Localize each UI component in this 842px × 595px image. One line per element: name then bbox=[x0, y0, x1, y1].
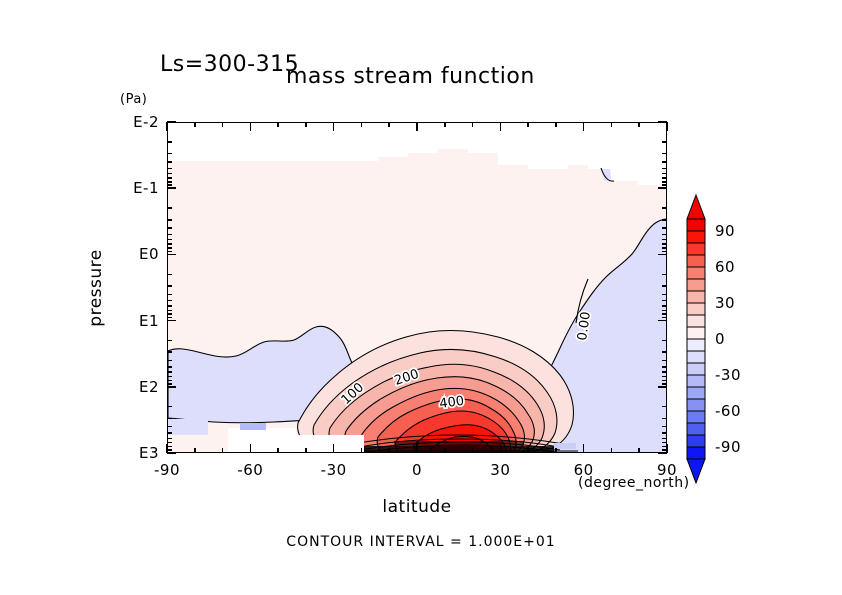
x-tick-label: -90 bbox=[154, 461, 180, 479]
x-tick-top-major bbox=[666, 122, 668, 131]
x-tick-top-minor bbox=[305, 122, 307, 127]
y-axis-title: pressure bbox=[86, 249, 106, 326]
y-tick-minor bbox=[167, 177, 172, 179]
y-tick-right-minor bbox=[662, 438, 667, 440]
y-tick-minor bbox=[167, 168, 172, 170]
y-tick-minor bbox=[167, 310, 172, 312]
y-tick-right-minor bbox=[662, 285, 667, 287]
y-tick-minor bbox=[167, 366, 172, 368]
x-tick-top-minor bbox=[555, 122, 557, 127]
colorbar-swatch bbox=[687, 411, 705, 423]
colorbar-swatch bbox=[687, 267, 705, 279]
colorbar-tick-label: 60 bbox=[715, 258, 735, 276]
y-tick-minor bbox=[167, 207, 172, 209]
y-tick-right-minor bbox=[662, 247, 667, 249]
y-tick-right-minor bbox=[662, 181, 667, 183]
y-tick-label: E-2 bbox=[115, 113, 159, 131]
contour-plot-area: 100 200 400 0.00 bbox=[167, 122, 667, 453]
y-tick-right-major bbox=[658, 254, 667, 256]
y-tick-right-minor bbox=[662, 251, 667, 253]
x-tick-top-major bbox=[250, 122, 252, 131]
y-tick-minor bbox=[167, 234, 172, 236]
x-tick-top-minor bbox=[277, 122, 279, 127]
y-tick-right-minor bbox=[662, 177, 667, 179]
pressure-unit-label: (Pa) bbox=[120, 92, 147, 107]
colorbar-swatch bbox=[687, 219, 705, 231]
y-tick-right-minor bbox=[662, 161, 667, 163]
x-tick-minor bbox=[527, 448, 529, 453]
y-tick-right-minor bbox=[662, 366, 667, 368]
y-tick-right-minor bbox=[662, 305, 667, 307]
colorbar-swatch bbox=[687, 351, 705, 363]
y-tick-minor bbox=[167, 274, 172, 276]
y-tick-right-minor bbox=[662, 426, 667, 428]
y-tick-minor bbox=[167, 340, 172, 342]
y-tick-major bbox=[167, 452, 176, 454]
y-tick-right-minor bbox=[662, 294, 667, 296]
colorbar-swatch bbox=[687, 303, 705, 315]
y-tick-right-minor bbox=[662, 340, 667, 342]
y-tick-right-major bbox=[658, 187, 667, 189]
x-tick-top-major bbox=[333, 122, 335, 131]
y-tick-right-minor bbox=[662, 239, 667, 241]
colorbar-tick-label: 30 bbox=[715, 294, 735, 312]
y-tick-minor bbox=[167, 227, 172, 229]
y-tick-right-minor bbox=[662, 219, 667, 221]
y-tick-right-minor bbox=[662, 376, 667, 378]
y-tick-minor bbox=[167, 285, 172, 287]
colorbar-tick-label: -60 bbox=[715, 402, 741, 420]
y-tick-minor bbox=[167, 300, 172, 302]
colorbar-swatch bbox=[687, 387, 705, 399]
y-tick-right-minor bbox=[662, 432, 667, 434]
y-tick-right-minor bbox=[662, 442, 667, 444]
y-tick-minor bbox=[167, 380, 172, 382]
y-tick-right-minor bbox=[662, 446, 667, 448]
y-tick-minor bbox=[167, 432, 172, 434]
contour-plot-canvas: 100 200 400 0.00 bbox=[168, 123, 666, 452]
y-tick-minor bbox=[167, 243, 172, 245]
colorbar-swatch bbox=[687, 435, 705, 447]
y-tick-minor bbox=[167, 438, 172, 440]
colorbar bbox=[683, 193, 709, 485]
y-tick-right-minor bbox=[662, 243, 667, 245]
colorbar-swatch bbox=[687, 363, 705, 375]
x-tick-minor bbox=[611, 448, 613, 453]
x-tick-top-minor bbox=[638, 122, 640, 127]
y-tick-minor bbox=[167, 360, 172, 362]
y-tick-right-minor bbox=[662, 351, 667, 353]
y-tick-major bbox=[167, 254, 176, 256]
y-tick-right-minor bbox=[662, 360, 667, 362]
x-tick-major bbox=[333, 444, 335, 453]
y-tick-minor bbox=[167, 141, 172, 143]
x-tick-label: 0 bbox=[412, 461, 422, 479]
x-tick-major bbox=[583, 444, 585, 453]
x-tick-top-minor bbox=[222, 122, 224, 127]
x-tick-label: -30 bbox=[321, 461, 347, 479]
colorbar-swatch bbox=[687, 339, 705, 351]
x-tick-label: 30 bbox=[490, 461, 510, 479]
colorbar-swatch bbox=[687, 315, 705, 327]
chart-title: mass stream function bbox=[286, 64, 535, 89]
x-tick-minor bbox=[305, 448, 307, 453]
x-tick-top-minor bbox=[388, 122, 390, 127]
y-tick-minor bbox=[167, 446, 172, 448]
y-tick-minor bbox=[167, 418, 172, 420]
y-tick-right-minor bbox=[662, 274, 667, 276]
x-tick-minor bbox=[444, 448, 446, 453]
y-tick-minor bbox=[167, 371, 172, 373]
x-tick-major bbox=[250, 444, 252, 453]
x-tick-minor bbox=[361, 448, 363, 453]
x-tick-top-minor bbox=[444, 122, 446, 127]
x-tick-top-major bbox=[166, 122, 168, 131]
y-tick-right-minor bbox=[662, 449, 667, 451]
y-tick-right-major bbox=[658, 121, 667, 123]
y-tick-right-minor bbox=[662, 227, 667, 229]
colorbar-tick-label: 0 bbox=[715, 330, 725, 348]
y-tick-minor bbox=[167, 305, 172, 307]
x-tick-top-major bbox=[583, 122, 585, 131]
x-tick-minor bbox=[194, 448, 196, 453]
colorbar-tick-label: -30 bbox=[715, 366, 741, 384]
colorbar-swatch bbox=[687, 423, 705, 435]
x-tick-top-minor bbox=[527, 122, 529, 127]
y-tick-right-minor bbox=[662, 141, 667, 143]
y-tick-major bbox=[167, 320, 176, 322]
y-tick-minor bbox=[167, 239, 172, 241]
y-tick-label: E3 bbox=[115, 444, 159, 462]
x-tick-top-minor bbox=[194, 122, 196, 127]
contour-field-svg: 100 200 400 0.00 bbox=[168, 123, 666, 452]
y-tick-minor bbox=[167, 247, 172, 249]
x-tick-major bbox=[416, 444, 418, 453]
colorbar-arrow-max bbox=[687, 195, 705, 219]
colorbar-swatches bbox=[683, 193, 709, 485]
y-tick-minor bbox=[167, 161, 172, 163]
y-tick-right-major bbox=[658, 320, 667, 322]
x-tick-label: -60 bbox=[237, 461, 263, 479]
y-tick-major bbox=[167, 386, 176, 388]
y-tick-minor bbox=[167, 376, 172, 378]
y-tick-right-minor bbox=[662, 383, 667, 385]
y-tick-minor bbox=[167, 449, 172, 451]
x-tick-minor bbox=[555, 448, 557, 453]
y-tick-right-minor bbox=[662, 234, 667, 236]
subtitle-ls: Ls=300-315 bbox=[160, 52, 299, 77]
y-tick-minor bbox=[167, 251, 172, 253]
y-tick-right-major bbox=[658, 386, 667, 388]
y-tick-label: E0 bbox=[115, 245, 159, 263]
colorbar-tick-label: -90 bbox=[715, 438, 741, 456]
y-tick-minor bbox=[167, 219, 172, 221]
colorbar-swatch bbox=[687, 231, 705, 243]
colorbar-swatch bbox=[687, 255, 705, 267]
colorbar-swatch bbox=[687, 447, 705, 459]
y-tick-minor bbox=[167, 181, 172, 183]
y-tick-minor bbox=[167, 442, 172, 444]
x-axis-unit: (degree_north) bbox=[578, 475, 690, 491]
x-tick-minor bbox=[472, 448, 474, 453]
y-tick-right-minor bbox=[662, 380, 667, 382]
y-tick-right-minor bbox=[662, 406, 667, 408]
y-tick-right-minor bbox=[662, 168, 667, 170]
y-tick-minor bbox=[167, 317, 172, 319]
y-tick-right-minor bbox=[662, 310, 667, 312]
x-tick-minor bbox=[638, 448, 640, 453]
x-tick-top-major bbox=[500, 122, 502, 131]
y-tick-major bbox=[167, 121, 176, 123]
colorbar-swatch bbox=[687, 399, 705, 411]
y-tick-label: E2 bbox=[115, 378, 159, 396]
x-tick-minor bbox=[277, 448, 279, 453]
colorbar-swatch bbox=[687, 291, 705, 303]
colorbar-arrow-min bbox=[687, 459, 705, 483]
colorbar-swatch bbox=[687, 327, 705, 339]
y-tick-right-minor bbox=[662, 153, 667, 155]
x-tick-minor bbox=[222, 448, 224, 453]
y-tick-major bbox=[167, 187, 176, 189]
contour-interval-note: CONTOUR INTERVAL = 1.000E+01 bbox=[286, 534, 555, 550]
colorbar-swatch bbox=[687, 375, 705, 387]
y-tick-right-minor bbox=[662, 313, 667, 315]
y-tick-minor bbox=[167, 406, 172, 408]
y-tick-right-minor bbox=[662, 371, 667, 373]
y-tick-right-minor bbox=[662, 173, 667, 175]
y-tick-minor bbox=[167, 426, 172, 428]
x-axis-title: latitude bbox=[382, 497, 451, 517]
colorbar-swatch bbox=[687, 279, 705, 291]
y-tick-minor bbox=[167, 351, 172, 353]
y-tick-minor bbox=[167, 184, 172, 186]
x-tick-top-major bbox=[416, 122, 418, 131]
y-tick-label: E-1 bbox=[115, 179, 159, 197]
y-tick-right-minor bbox=[662, 317, 667, 319]
y-tick-minor bbox=[167, 294, 172, 296]
x-tick-top-minor bbox=[611, 122, 613, 127]
y-tick-minor bbox=[167, 313, 172, 315]
y-tick-right-minor bbox=[662, 207, 667, 209]
y-tick-minor bbox=[167, 153, 172, 155]
y-tick-right-minor bbox=[662, 418, 667, 420]
y-tick-right-minor bbox=[662, 184, 667, 186]
x-tick-minor bbox=[388, 448, 390, 453]
colorbar-swatch bbox=[687, 243, 705, 255]
y-tick-right-minor bbox=[662, 300, 667, 302]
y-tick-minor bbox=[167, 383, 172, 385]
x-tick-major bbox=[500, 444, 502, 453]
y-tick-right-major bbox=[658, 452, 667, 454]
y-tick-minor bbox=[167, 173, 172, 175]
colorbar-tick-label: 90 bbox=[715, 222, 735, 240]
y-tick-label: E1 bbox=[115, 312, 159, 330]
x-tick-top-minor bbox=[361, 122, 363, 127]
x-tick-top-minor bbox=[472, 122, 474, 127]
